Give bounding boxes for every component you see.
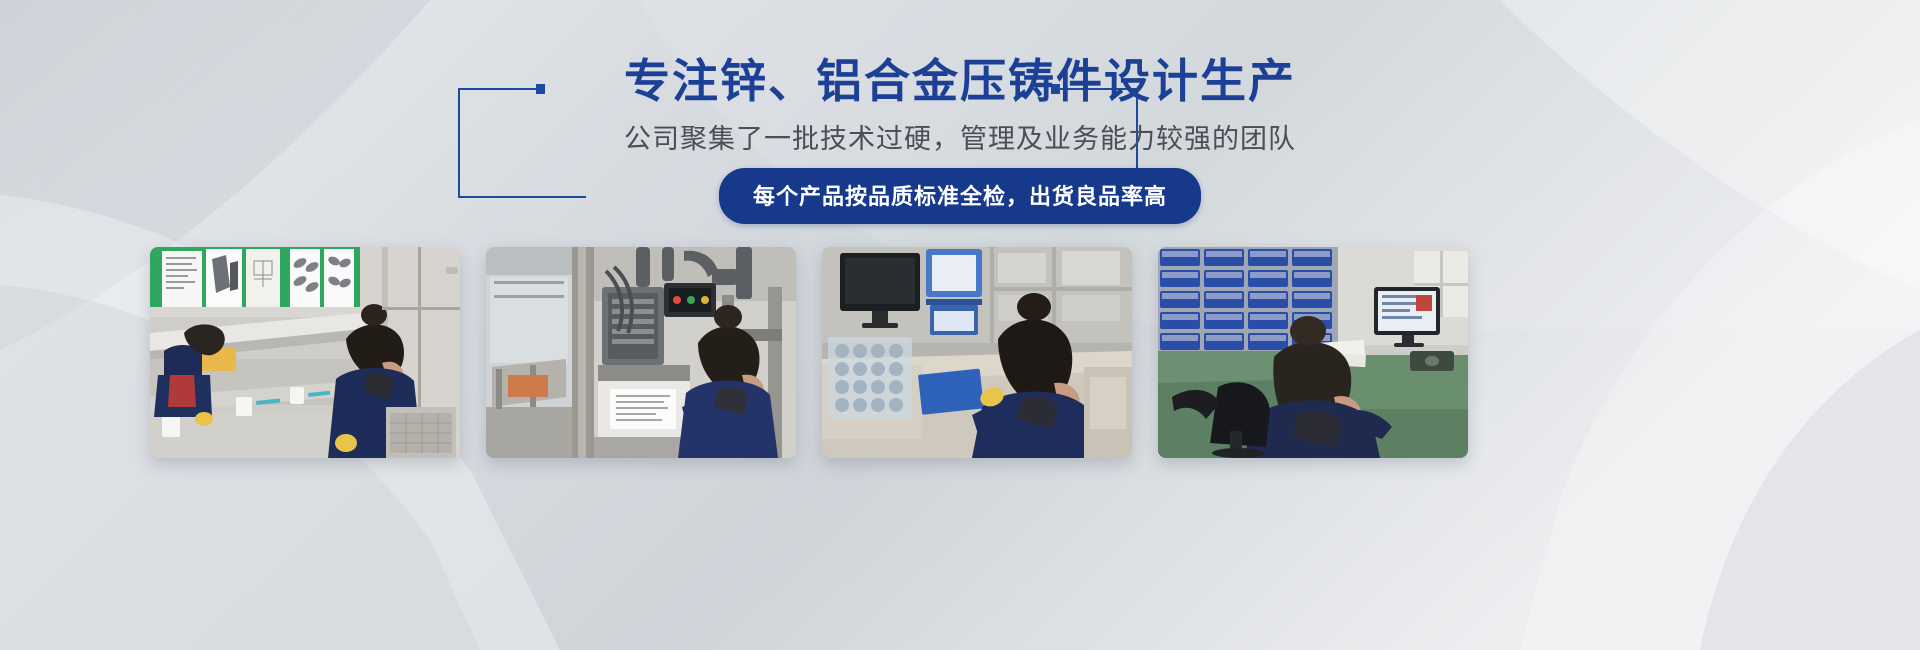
banner-stage: 专注锌、铝合金压铸件设计生产 公司聚集了一批技术过硬，管理及业务能力较强的团队 … [0,0,1920,650]
banner-badge: 每个产品按品质标准全检，出货良品率高 [719,168,1201,224]
photo-quality-check-image [822,247,1132,458]
banner-title: 专注锌、铝合金压铸件设计生产 [0,58,1920,104]
banner-header: 专注锌、铝合金压铸件设计生产 公司聚集了一批技术过硬，管理及业务能力较强的团队 … [0,0,1920,240]
photo-gallery [150,247,1770,458]
frame-bottom-left-line [458,196,586,198]
photo-quality-check[interactable] [822,247,1132,458]
photo-inspection-station-image [150,247,460,458]
banner-subtitle: 公司聚集了一批技术过硬，管理及业务能力较强的团队 [0,122,1920,157]
photo-inspection-station[interactable] [150,247,460,458]
photo-die-casting-machine-image [486,247,796,458]
photo-warehouse-office[interactable] [1158,247,1468,458]
photo-warehouse-office-image [1158,247,1468,458]
photo-die-casting-machine[interactable] [486,247,796,458]
